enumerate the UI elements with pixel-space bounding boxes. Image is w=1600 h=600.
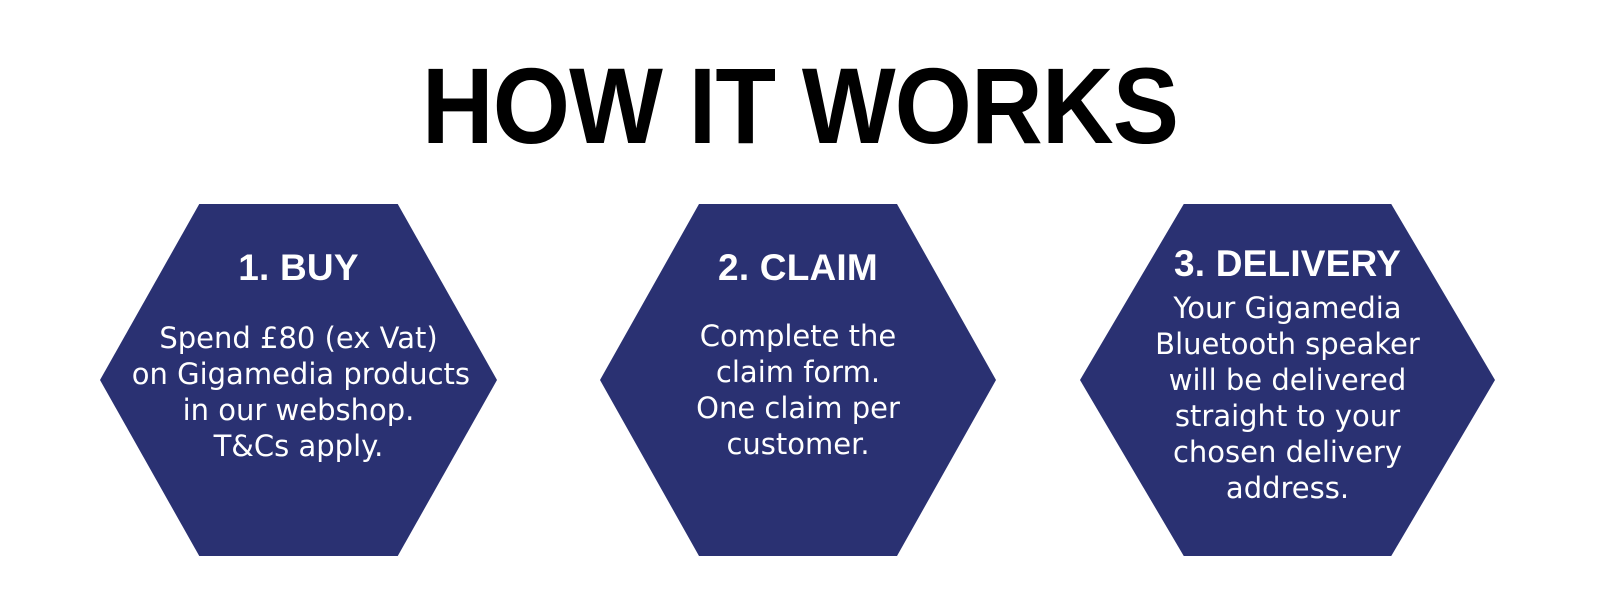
step-body-line: on Gigamedia products	[132, 356, 465, 392]
step-hexagon-claim: 2. CLAIM Complete the claim form. One cl…	[600, 204, 996, 556]
page-title: HOW IT WORKS	[64, 52, 1536, 160]
step-body: Complete the claim form. One claim per c…	[632, 318, 965, 462]
step-hexagon-delivery: 3. DELIVERY Your Gigamedia Bluetooth spe…	[1080, 204, 1495, 556]
step-body-line: claim form.	[632, 354, 965, 390]
step-hexagon-buy: 1. BUY Spend £80 (ex Vat) on Gigamedia p…	[100, 204, 497, 556]
step-body-line: chosen delivery	[1113, 434, 1462, 470]
step-body-line: address.	[1113, 470, 1462, 506]
step-heading: 3. DELIVERY	[1174, 244, 1401, 284]
step-body-line: One claim per	[632, 390, 965, 426]
step-body-line: will be delivered	[1113, 362, 1462, 398]
step-body-line: T&Cs apply.	[132, 428, 465, 464]
step-body-line: Bluetooth speaker	[1113, 326, 1462, 362]
step-body-line: straight to your	[1113, 398, 1462, 434]
step-body-line: Spend £80 (ex Vat)	[132, 320, 465, 356]
step-body-line: in our webshop.	[132, 392, 465, 428]
step-body-line: Complete the	[632, 318, 965, 354]
step-body-line: Your Gigamedia	[1113, 290, 1462, 326]
step-body: Your Gigamedia Bluetooth speaker will be…	[1113, 290, 1462, 506]
step-body-line: customer.	[632, 426, 965, 462]
step-heading: 1. BUY	[238, 248, 358, 288]
step-body: Spend £80 (ex Vat) on Gigamedia products…	[132, 320, 465, 464]
steps-row: 1. BUY Spend £80 (ex Vat) on Gigamedia p…	[0, 204, 1600, 556]
how-it-works-poster: HOW IT WORKS 1. BUY Spend £80 (ex Vat) o…	[0, 0, 1600, 600]
step-heading: 2. CLAIM	[718, 248, 878, 288]
